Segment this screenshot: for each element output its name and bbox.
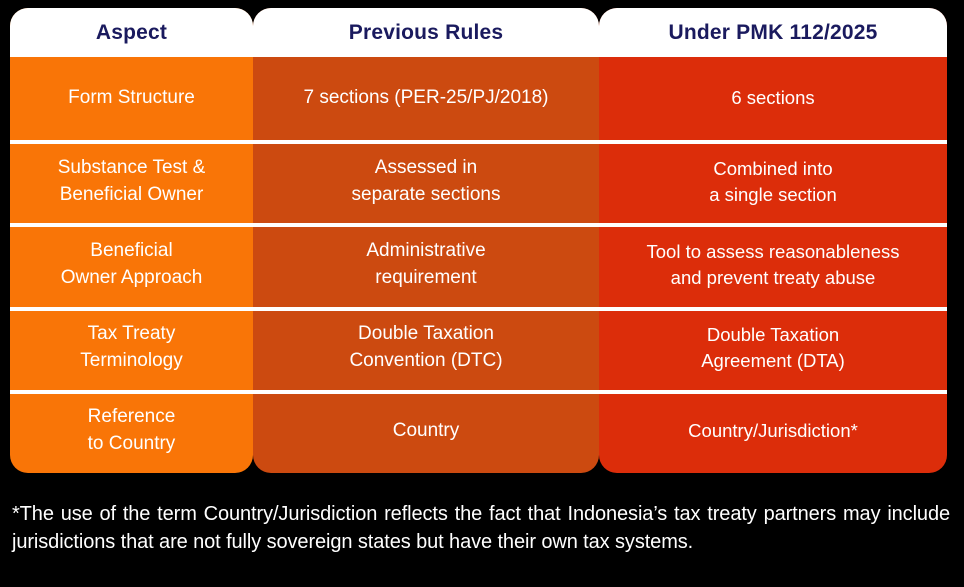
table-cell: Double Taxation Convention (DTC) [253,307,599,390]
column-body-previous-rules: 7 sections (PER-25/PJ/2018) Assessed in … [253,57,599,473]
column-header-pmk: Under PMK 112/2025 [599,8,947,57]
cell-text: Tool to assess reasonableness and preven… [647,239,900,292]
cell-text: 7 sections (PER-25/PJ/2018) [303,85,548,112]
table-cell: Combined into a single section [599,140,947,223]
comparison-table: Aspect Form Structure Substance Test & B… [10,8,947,473]
table-cell: Tax Treaty Terminology [10,307,253,390]
table-cell: Tool to assess reasonableness and preven… [599,223,947,306]
table-cell: Country [253,390,599,473]
table-cell: Double Taxation Agreement (DTA) [599,307,947,390]
table-column-pmk: Under PMK 112/2025 6 sections Combined i… [599,8,947,473]
table-column-previous-rules: Previous Rules 7 sections (PER-25/PJ/201… [253,8,599,473]
column-body-aspect: Form Structure Substance Test & Benefici… [10,57,253,473]
table-cell: Administrative requirement [253,223,599,306]
column-header-label: Aspect [96,21,167,45]
column-header-label: Previous Rules [349,21,504,45]
cell-text: Country [393,418,460,445]
cell-text: Form Structure [68,85,195,112]
cell-text: Administrative requirement [366,238,485,292]
table-cell: Beneficial Owner Approach [10,223,253,306]
table-cell: 7 sections (PER-25/PJ/2018) [253,57,599,140]
cell-text: Substance Test & Beneficial Owner [58,155,206,209]
cell-text: Tax Treaty Terminology [80,321,182,375]
cell-text: 6 sections [731,85,814,111]
column-header-aspect: Aspect [10,8,253,57]
table-cell: 6 sections [599,57,947,140]
column-header-label: Under PMK 112/2025 [668,21,877,45]
footnote-text: *The use of the term Country/Jurisdictio… [12,500,950,557]
column-header-previous-rules: Previous Rules [253,8,599,57]
cell-text: Assessed in separate sections [352,155,501,209]
table-column-aspect: Aspect Form Structure Substance Test & B… [10,8,253,473]
table-cell: Country/Jurisdiction* [599,390,947,473]
table-cell: Substance Test & Beneficial Owner [10,140,253,223]
column-body-pmk: 6 sections Combined into a single sectio… [599,57,947,473]
cell-text: Double Taxation Agreement (DTA) [701,322,845,375]
cell-text: Double Taxation Convention (DTC) [349,321,502,375]
table-cell: Reference to Country [10,390,253,473]
table-cell: Form Structure [10,57,253,140]
cell-text: Beneficial Owner Approach [61,238,203,292]
cell-text: Combined into a single section [709,156,837,209]
cell-text: Country/Jurisdiction* [688,418,858,444]
cell-text: Reference to Country [88,404,176,458]
table-cell: Assessed in separate sections [253,140,599,223]
